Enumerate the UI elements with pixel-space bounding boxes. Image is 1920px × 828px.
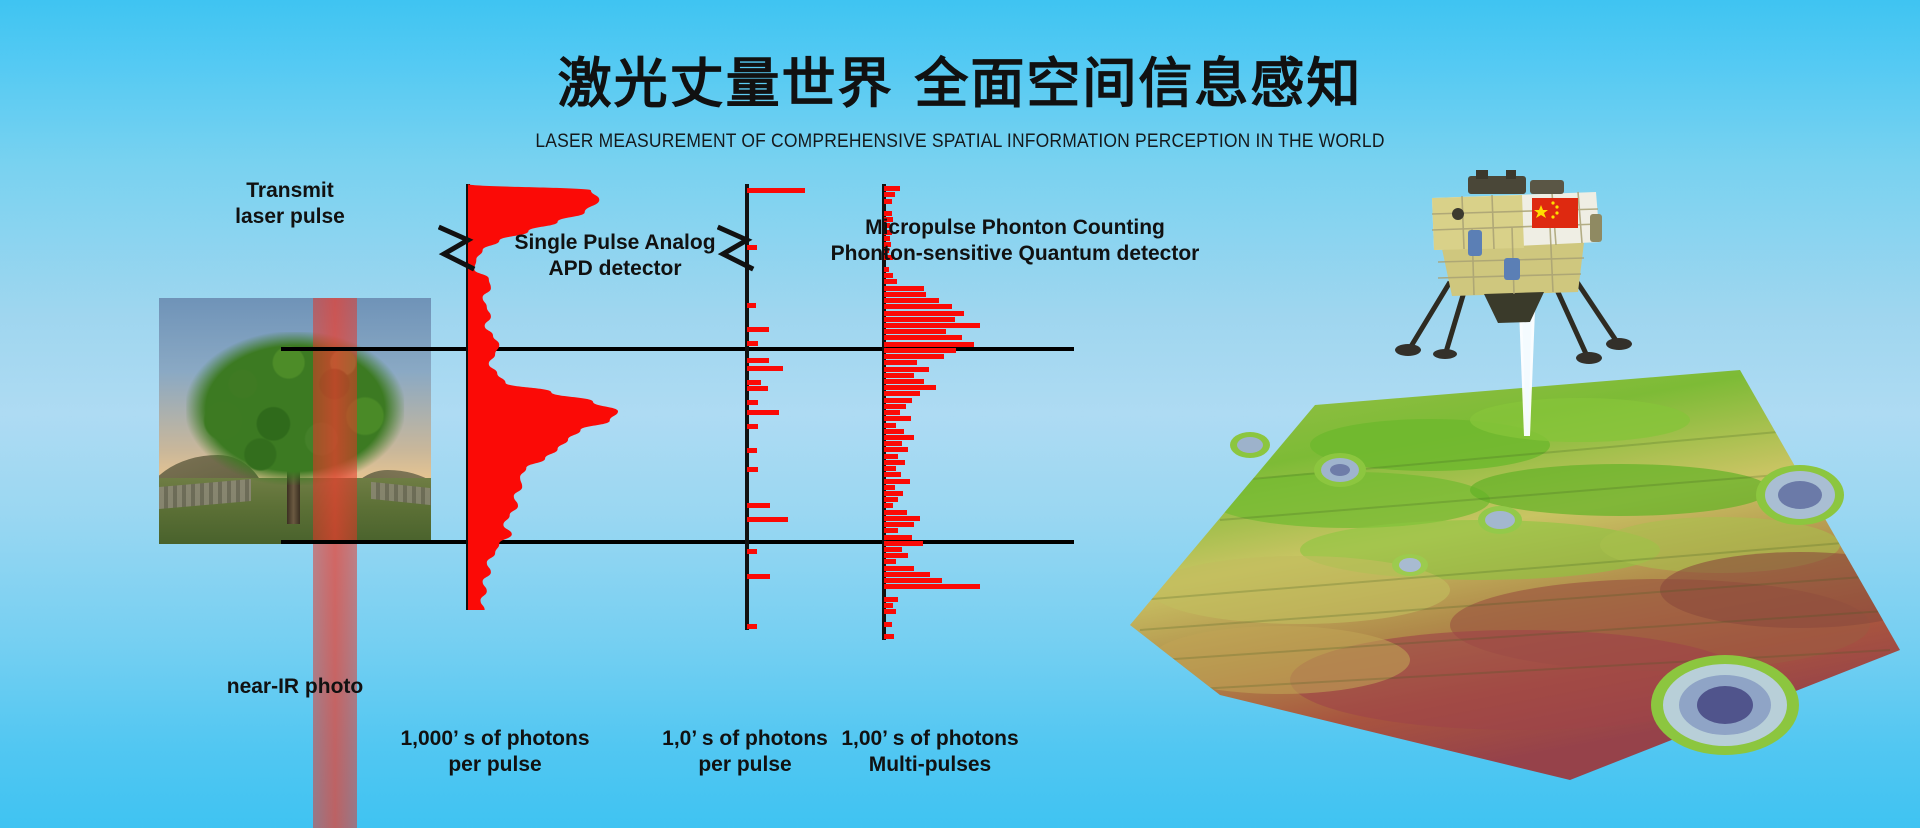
- histogram-bar: [884, 329, 946, 334]
- near-ir-photo: [159, 298, 431, 544]
- histogram-bar: [884, 535, 912, 540]
- histogram-bar: [884, 273, 893, 278]
- page-header: 激光丈量世界 全面空间信息感知 LASER MEASUREMENT OF COM…: [0, 0, 1920, 153]
- histogram-bar: [884, 311, 964, 316]
- histogram-bar: [884, 348, 956, 353]
- photo-tree-canopy: [186, 332, 404, 485]
- histogram-bar: [884, 466, 896, 471]
- histogram-bar: [747, 624, 757, 629]
- histogram-bar: [884, 192, 895, 197]
- page-subtitle: LASER MEASUREMENT OF COMPREHENSIVE SPATI…: [77, 131, 1843, 153]
- histogram-bar: [884, 547, 902, 552]
- histogram-bar: [884, 267, 889, 272]
- histogram-bar: [884, 634, 894, 639]
- histogram-bar: [884, 373, 914, 378]
- histogram-bar: [884, 472, 901, 477]
- histogram-bar: [884, 186, 900, 191]
- histogram-bar: [884, 497, 898, 502]
- histogram-bar: [884, 317, 955, 322]
- histogram-bar: [884, 416, 911, 421]
- histogram-bar: [884, 385, 936, 390]
- histogram-bar: [884, 479, 910, 484]
- histogram-bar: [884, 597, 898, 602]
- histogram-bar: [884, 298, 939, 303]
- histogram-bar: [884, 516, 920, 521]
- histogram-bar: [884, 441, 902, 446]
- histogram-bar: [747, 303, 756, 308]
- histogram-bar: [747, 188, 805, 193]
- transmit-laser-pulse-label: Transmit laser pulse: [180, 178, 400, 229]
- histogram-bar: [747, 386, 768, 391]
- lunar-lander: [1372, 170, 1662, 390]
- histogram-bar: [884, 360, 917, 365]
- histogram-bar: [747, 358, 769, 363]
- lidar-comparison-diagram: Transmit laser pulse near-IR photo Singl…: [0, 170, 1100, 828]
- histogram-bar: [884, 323, 980, 328]
- histogram-bar: [884, 199, 892, 204]
- histogram-bar: [747, 424, 758, 429]
- histogram-bar: [884, 559, 896, 564]
- histogram-bar: [747, 380, 761, 385]
- histogram-bar: [884, 485, 895, 490]
- histogram-bar: [884, 379, 924, 384]
- histogram-bar: [884, 460, 905, 465]
- chart3-footer-label: 1,00’ s of photons Multi-pulses: [785, 726, 1075, 777]
- histogram-bar: [884, 354, 944, 359]
- histogram-bar: [884, 503, 893, 508]
- histogram-bar: [884, 609, 896, 614]
- histogram-bar: [884, 622, 892, 627]
- histogram-bar: [884, 584, 980, 589]
- histogram-bar: [884, 391, 920, 396]
- lunar-lander-scene: [1100, 170, 1920, 828]
- histogram-bar: [884, 541, 923, 546]
- histogram-bar: [884, 528, 898, 533]
- histogram-bar: [884, 286, 924, 291]
- lander-footpads: [1395, 338, 1632, 364]
- histogram-bar: [884, 510, 907, 515]
- histogram-bar: [747, 400, 758, 405]
- lander-engine-nozzle: [1484, 292, 1544, 323]
- china-flag-icon: [1532, 198, 1578, 228]
- histogram-bar: [884, 398, 912, 403]
- histogram-bar: [747, 366, 783, 371]
- histogram-bar: [884, 447, 908, 452]
- histogram-bar: [884, 454, 898, 459]
- near-ir-photo-caption: near-IR photo: [175, 674, 415, 700]
- histogram-bar: [884, 304, 952, 309]
- histogram-bar: [747, 503, 770, 508]
- histogram-bar: [884, 603, 893, 608]
- histogram-bar: [884, 491, 903, 496]
- histogram-bar: [884, 342, 974, 347]
- histogram-bar: [884, 292, 926, 297]
- histogram-bar: [884, 572, 930, 577]
- chart1-footer-label: 1,000’ s of photons per pulse: [350, 726, 640, 777]
- histogram-bar: [884, 279, 897, 284]
- histogram-bar: [747, 574, 770, 579]
- histogram-bar: [884, 578, 942, 583]
- page-title: 激光丈量世界 全面空间信息感知: [0, 54, 1920, 113]
- histogram-bar: [884, 522, 914, 527]
- histogram-bar: [747, 327, 769, 332]
- histogram-bar: [884, 423, 896, 428]
- histogram-bar: [747, 410, 779, 415]
- histogram-bar: [884, 404, 906, 409]
- histogram-bar: [747, 549, 757, 554]
- histogram-bar: [884, 367, 929, 372]
- histogram-bar: [747, 448, 757, 453]
- chart2-axis-break-icon: [717, 220, 769, 276]
- histogram-bar: [747, 341, 758, 346]
- histogram-bar: [884, 410, 900, 415]
- histogram-bar: [747, 517, 788, 522]
- histogram-bar: [884, 429, 904, 434]
- histogram-bar: [747, 467, 758, 472]
- histogram-bar: [884, 435, 914, 440]
- histogram-bar: [884, 566, 914, 571]
- histogram-bar: [884, 335, 962, 340]
- histogram-bar: [884, 553, 908, 558]
